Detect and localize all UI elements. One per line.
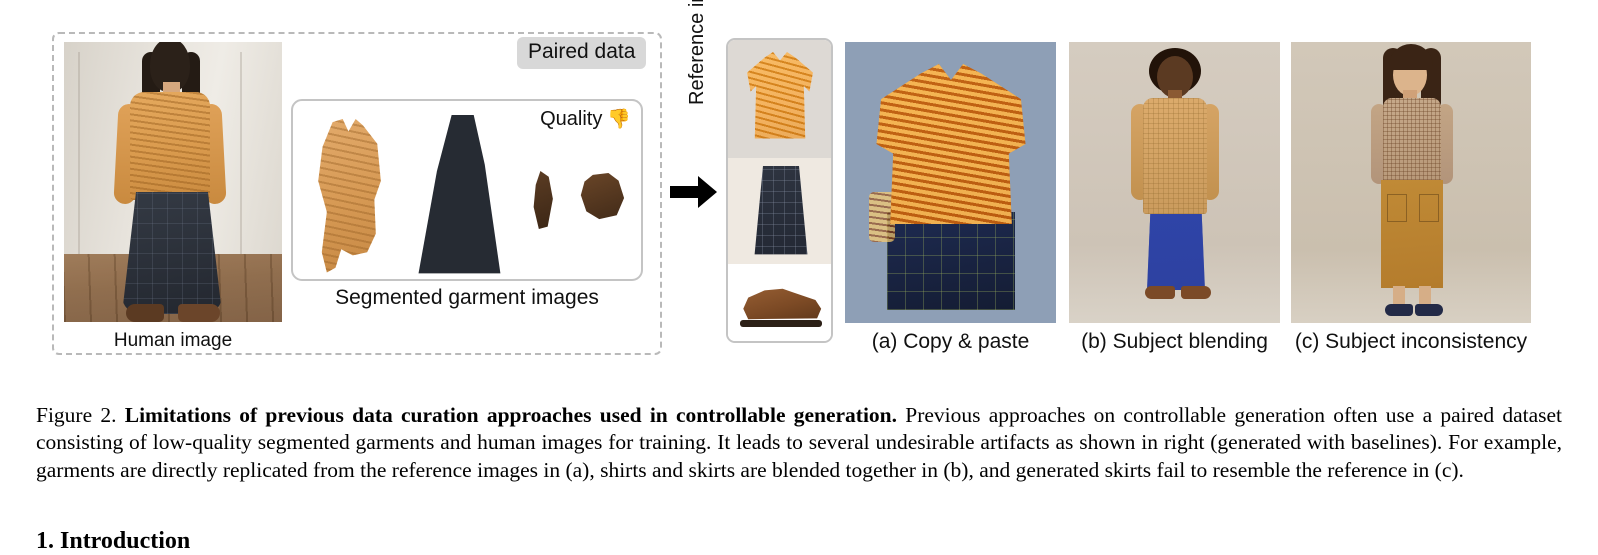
- section-heading-introduction: 1. Introduction: [36, 528, 190, 555]
- segmented-garments-box: Quality 👎: [291, 99, 643, 281]
- shoe-right: [1415, 304, 1443, 316]
- blended-tunic-garment: [1143, 98, 1207, 214]
- pasted-orange-shirt: [875, 64, 1027, 224]
- checked-shirt-generated: [1383, 98, 1441, 184]
- segmented-shoe-fragment-1: [530, 171, 556, 229]
- reference-shirt-cell: [728, 40, 831, 158]
- loafer-sole: [740, 320, 822, 327]
- blue-skirt-generated: [1147, 210, 1205, 290]
- thumbs-down-icon: 👎: [607, 107, 631, 131]
- wall-molding-line: [78, 52, 80, 262]
- caption-bold-title: Limitations of previous data curation ap…: [125, 403, 897, 427]
- pasted-plaid-skirt: [887, 212, 1015, 310]
- reference-navy-plaid-skirt: [751, 166, 811, 258]
- result-panel-b-caption: (b) Subject blending: [1069, 330, 1280, 354]
- wall-molding-line: [240, 52, 242, 262]
- result-panel-a: [845, 42, 1056, 323]
- quality-label: Quality: [540, 108, 602, 131]
- right-arrow-icon: [670, 175, 718, 209]
- figure-caption: Figure 2. Limitations of previous data c…: [36, 402, 1562, 485]
- orange-shirt-worn: [130, 92, 210, 200]
- figure-number: Figure 2.: [36, 403, 117, 427]
- quality-tag: Quality 👎: [540, 107, 631, 131]
- skirt-pocket-right: [1419, 194, 1439, 222]
- segmented-garments-caption: Segmented garment images: [291, 286, 643, 310]
- segmented-shirt: [311, 119, 383, 274]
- reference-brown-loafer: [740, 284, 822, 324]
- segmented-shoe-fragment-2: [579, 173, 625, 221]
- paired-data-badge: Paired data: [517, 37, 646, 69]
- reference-orange-shirt: [745, 52, 815, 146]
- skirt-pocket-left: [1387, 194, 1407, 222]
- result-panel-b: [1069, 42, 1280, 323]
- human-image-caption: Human image: [64, 330, 282, 352]
- result-panel-c: [1291, 42, 1531, 323]
- shoe-left: [126, 304, 164, 322]
- human-image-photo: [64, 42, 282, 322]
- result-panel-c-caption: (c) Subject inconsistency: [1291, 330, 1531, 354]
- reference-images-label: Reference images: [686, 0, 708, 105]
- navy-skirt-worn: [122, 192, 222, 314]
- figure-2-illustration: Paired data Human image Quality 👎 Segmen…: [0, 0, 1598, 372]
- shoe-left: [1385, 304, 1413, 316]
- result-panel-a-caption: (a) Copy & paste: [845, 330, 1056, 354]
- shoe-right: [178, 304, 220, 322]
- reference-shoe-cell: [728, 264, 831, 341]
- reference-images-column: [726, 38, 833, 343]
- segmented-skirt: [413, 115, 505, 280]
- reference-skirt-cell: [728, 158, 831, 264]
- shoe-left: [1145, 286, 1175, 299]
- shoe-right: [1181, 286, 1211, 299]
